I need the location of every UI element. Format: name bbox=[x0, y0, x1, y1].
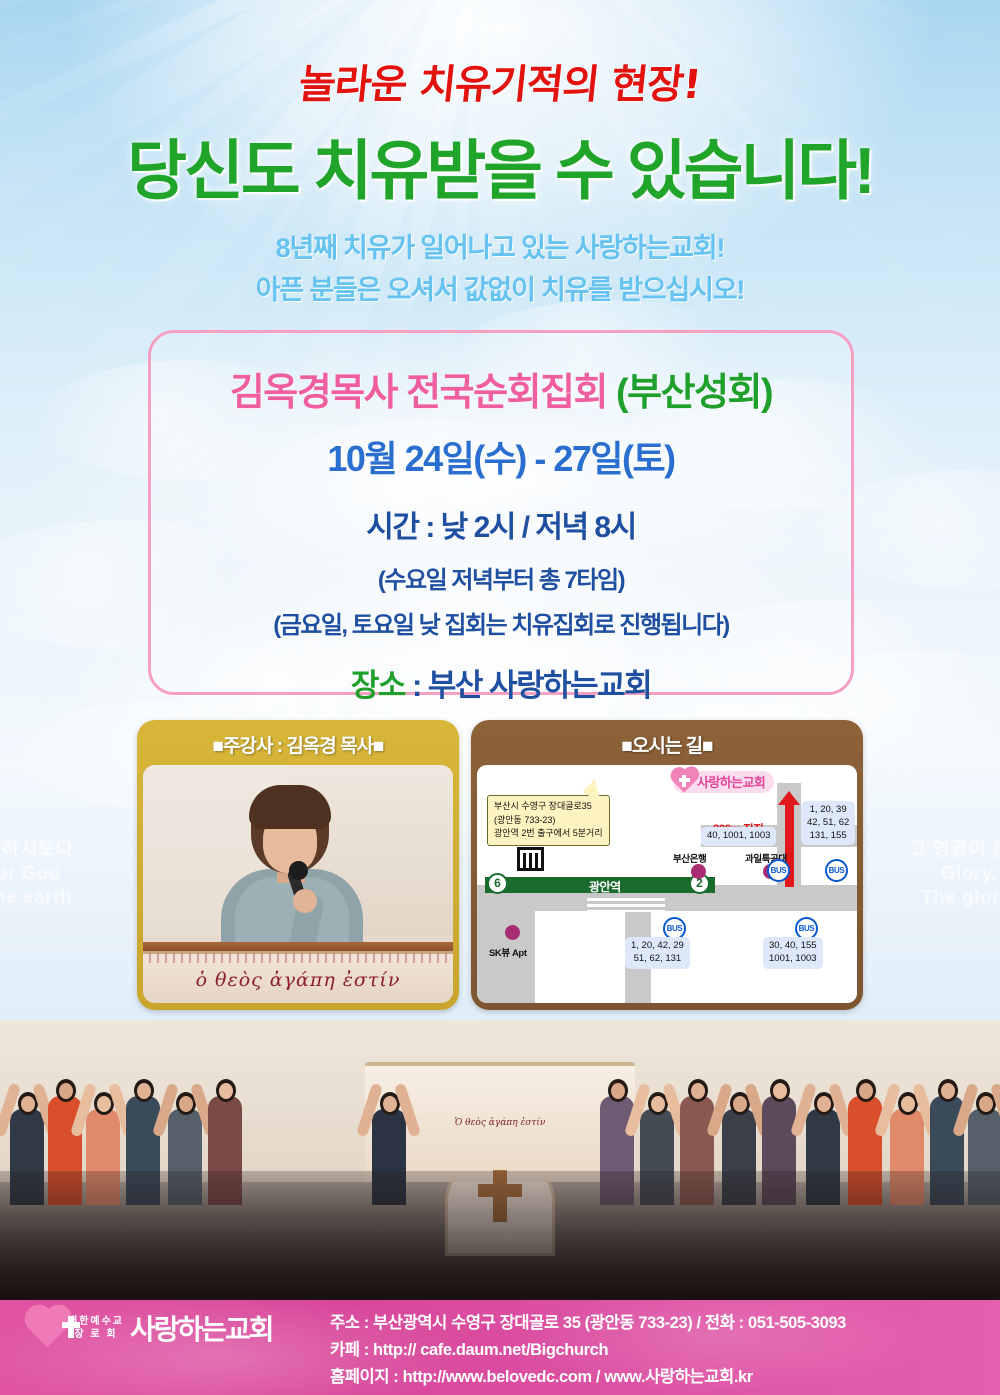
microphone-head-icon bbox=[289, 861, 308, 880]
kicker-headline: 놀라운 치유기적의 현장! bbox=[0, 52, 1000, 110]
bus-box-far-right-line-1: 1, 20, 39 bbox=[807, 804, 849, 817]
landmark-apt-dot bbox=[505, 925, 520, 940]
address-callout: 부산시 수영구 장대골로35 (광안동 733-23) 광안역 2번 출구에서 … bbox=[487, 795, 610, 846]
logo-church-name: 사랑하는교회 bbox=[130, 1308, 273, 1348]
pulpit-top-rail bbox=[143, 942, 453, 951]
address-callout-line-1: 부산시 수영구 장대골로35 bbox=[494, 800, 603, 814]
worshipper-face bbox=[817, 1096, 831, 1112]
watermark-verse-left: 에 충만하시도다 y to our God s all the earth bbox=[0, 838, 74, 909]
event-note-1: (수요일 저녁부터 총 7타임) bbox=[151, 560, 851, 595]
worshipper-face bbox=[179, 1096, 193, 1112]
worshipper-face bbox=[219, 1083, 233, 1099]
logo-denomination: 대한예수교 장 로 회 bbox=[68, 1315, 124, 1342]
subtitle-line-2: 아픈 분들은 오셔서 값없이 치유를 받으십시오! bbox=[0, 268, 1000, 307]
bus-box-bottom-right-line-1: 30, 40, 155 bbox=[769, 940, 817, 953]
bus-box-bottom-left-line-1: 1, 20, 42, 29 bbox=[631, 940, 684, 953]
bus-box-far-right: 1, 20, 39 42, 51, 62 131, 155 bbox=[801, 801, 855, 845]
map-canvas: 광안역 6 2 ↑↓ 300m 직진 사랑하는교회 bbox=[477, 765, 857, 1003]
logo-cross-icon bbox=[68, 1316, 74, 1338]
worshipper-face bbox=[773, 1083, 787, 1099]
elevator-bars-icon bbox=[523, 853, 538, 868]
subtitle-line-1: 8년째 치유가 일어나고 있는 사랑하는교회! bbox=[0, 226, 1000, 265]
pulpit-greek-text: ὁ θεὸς ἀγάπη ἐστίν bbox=[143, 969, 453, 991]
subway-exit-6: 6 bbox=[487, 873, 508, 894]
worshipper-face bbox=[901, 1096, 915, 1112]
landmark-bank-label: 부산은행 bbox=[673, 851, 706, 865]
bus-box-mid-right: 40, 1001, 1003 bbox=[701, 827, 776, 846]
church-map-pin: 사랑하는교회 bbox=[673, 771, 774, 793]
worshipper-face bbox=[691, 1083, 705, 1099]
worshipper-face bbox=[97, 1096, 111, 1112]
bus-box-bottom-right-line-2: 1001, 1003 bbox=[769, 953, 817, 966]
watermark-right-line3: The glory fills bbox=[909, 886, 1000, 910]
church-map-pin-label: 사랑하는교회 bbox=[697, 775, 765, 790]
worshipper-face bbox=[651, 1096, 665, 1112]
worshipper-face bbox=[383, 1096, 397, 1112]
event-place-label: 장소 bbox=[351, 668, 412, 703]
contact-info: 주소 : 부산광역시 수영구 장대골로 35 (광안동 733-23) / 전화… bbox=[330, 1310, 846, 1392]
worshipper-face bbox=[941, 1083, 955, 1099]
address-callout-line-2: (광안동 733-23) bbox=[494, 814, 603, 828]
event-info-box: 김옥경목사 전국순회집회 (부산성회) 10월 24일(수) - 27일(토) … bbox=[148, 330, 854, 695]
watermark-right-line2: Glory, glory bbox=[909, 862, 1000, 886]
speaker-panel-header: ■주강사 : 김옥경 목사■ bbox=[143, 726, 453, 765]
elevator-icon bbox=[517, 847, 544, 871]
event-title-main: 김옥경목사 전국순회집회 bbox=[230, 372, 616, 414]
contact-address: 주소 : 부산광역시 수영구 장대골로 35 (광안동 733-23) / 전화… bbox=[330, 1310, 846, 1337]
page-title: 당신도 치유받을 수 있습니다! bbox=[0, 118, 1000, 212]
worshipper-face bbox=[859, 1083, 873, 1099]
event-date: 10월 24일(수) - 27일(토) bbox=[151, 430, 851, 482]
bus-box-bottom-left-line-2: 51, 62, 131 bbox=[631, 953, 684, 966]
bus-box-far-right-line-2: 42, 51, 62 bbox=[807, 817, 849, 830]
bus-box-mid-right-line-1: 40, 1001, 1003 bbox=[707, 830, 770, 843]
event-note-2: (금요일, 토요일 낮 집회는 치유집회로 진행됩니다) bbox=[151, 605, 851, 640]
landmark-bank-dot bbox=[691, 864, 706, 879]
worshipper-face bbox=[979, 1096, 993, 1112]
speaker-panel: ■주강사 : 김옥경 목사■ ὁ θεὸς ἀγάπη ἐστίν bbox=[137, 720, 459, 1010]
event-time: 시간 : 낮 2시 / 저녁 8시 bbox=[151, 502, 851, 546]
logo-denomination-line-2: 장 로 회 bbox=[68, 1328, 124, 1342]
logo-heart-icon bbox=[29, 1309, 67, 1347]
church-logo: 대한예수교 장 로 회 사랑하는교회 bbox=[28, 1308, 273, 1348]
contact-cafe[interactable]: 카페 : http:// cafe.daum.net/Bigchurch bbox=[330, 1337, 846, 1364]
subway-station-label: 광안역 bbox=[589, 878, 621, 895]
event-place-value: : 부산 사랑하는교회 bbox=[412, 668, 651, 703]
address-callout-line-3: 광안역 2번 출구에서 5분거리 bbox=[494, 827, 603, 841]
worshipper-face bbox=[21, 1096, 35, 1112]
worshipper-face bbox=[611, 1083, 625, 1099]
watermark-left-line1: 에 충만하시도다 bbox=[0, 838, 74, 862]
crosswalk bbox=[587, 898, 665, 912]
pulpit-ornament bbox=[143, 953, 453, 963]
bus-box-bottom-right: 30, 40, 155 1001, 1003 bbox=[763, 937, 823, 969]
event-title-region: (부산성회) bbox=[616, 372, 772, 414]
crowd-silhouette bbox=[0, 1171, 1000, 1300]
bus-box-bottom-left: 1, 20, 42, 29 51, 62, 131 bbox=[625, 937, 690, 969]
directions-panel: ■오시는 길■ 광안역 6 2 ↑↓ bbox=[471, 720, 863, 1010]
map: 광안역 6 2 ↑↓ 300m 직진 사랑하는교회 bbox=[477, 765, 857, 1003]
bus-box-far-right-line-3: 131, 155 bbox=[807, 830, 849, 843]
congregation-photo: Ὁ θεὸς ἀγάπη ἐστίν bbox=[0, 1020, 1000, 1300]
speaker-photo: ὁ θεὸς ἀγάπη ἐστίν bbox=[143, 765, 453, 1003]
event-place: 장소 : 부산 사랑하는교회 bbox=[151, 660, 851, 705]
worshipper-face bbox=[733, 1096, 747, 1112]
landmark-apt-label: SK뷰 Apt bbox=[489, 945, 527, 959]
watermark-right-line1: 고 영광이 온 땅에 bbox=[909, 838, 1000, 862]
event-title: 김옥경목사 전국순회집회 (부산성회) bbox=[151, 361, 851, 416]
speaker-hand bbox=[293, 889, 317, 913]
bus-stop-icon-far-right: BUS bbox=[825, 859, 848, 882]
poster-root: 에 충만하시도다 y to our God s all the earth 고 … bbox=[0, 0, 1000, 1395]
worshipper-face bbox=[59, 1083, 73, 1099]
bus-stop-icon-mid: BUS bbox=[767, 859, 790, 882]
cross-icon bbox=[682, 775, 686, 787]
contact-homepage[interactable]: 홈페이지 : http://www.belovedc.com / www.사랑하… bbox=[330, 1364, 846, 1391]
watermark-verse-right: 고 영광이 온 땅에 Glory, glory The glory fills bbox=[909, 838, 1000, 909]
watermark-left-line3: s all the earth bbox=[0, 886, 74, 910]
directions-panel-header: ■오시는 길■ bbox=[477, 726, 857, 765]
worshipper-face bbox=[137, 1083, 151, 1099]
footer-bar: 대한예수교 장 로 회 사랑하는교회 주소 : 부산광역시 수영구 장대골로 3… bbox=[0, 1300, 1000, 1395]
speaker-fringe bbox=[249, 785, 331, 829]
watermark-left-line2: y to our God bbox=[0, 862, 74, 886]
